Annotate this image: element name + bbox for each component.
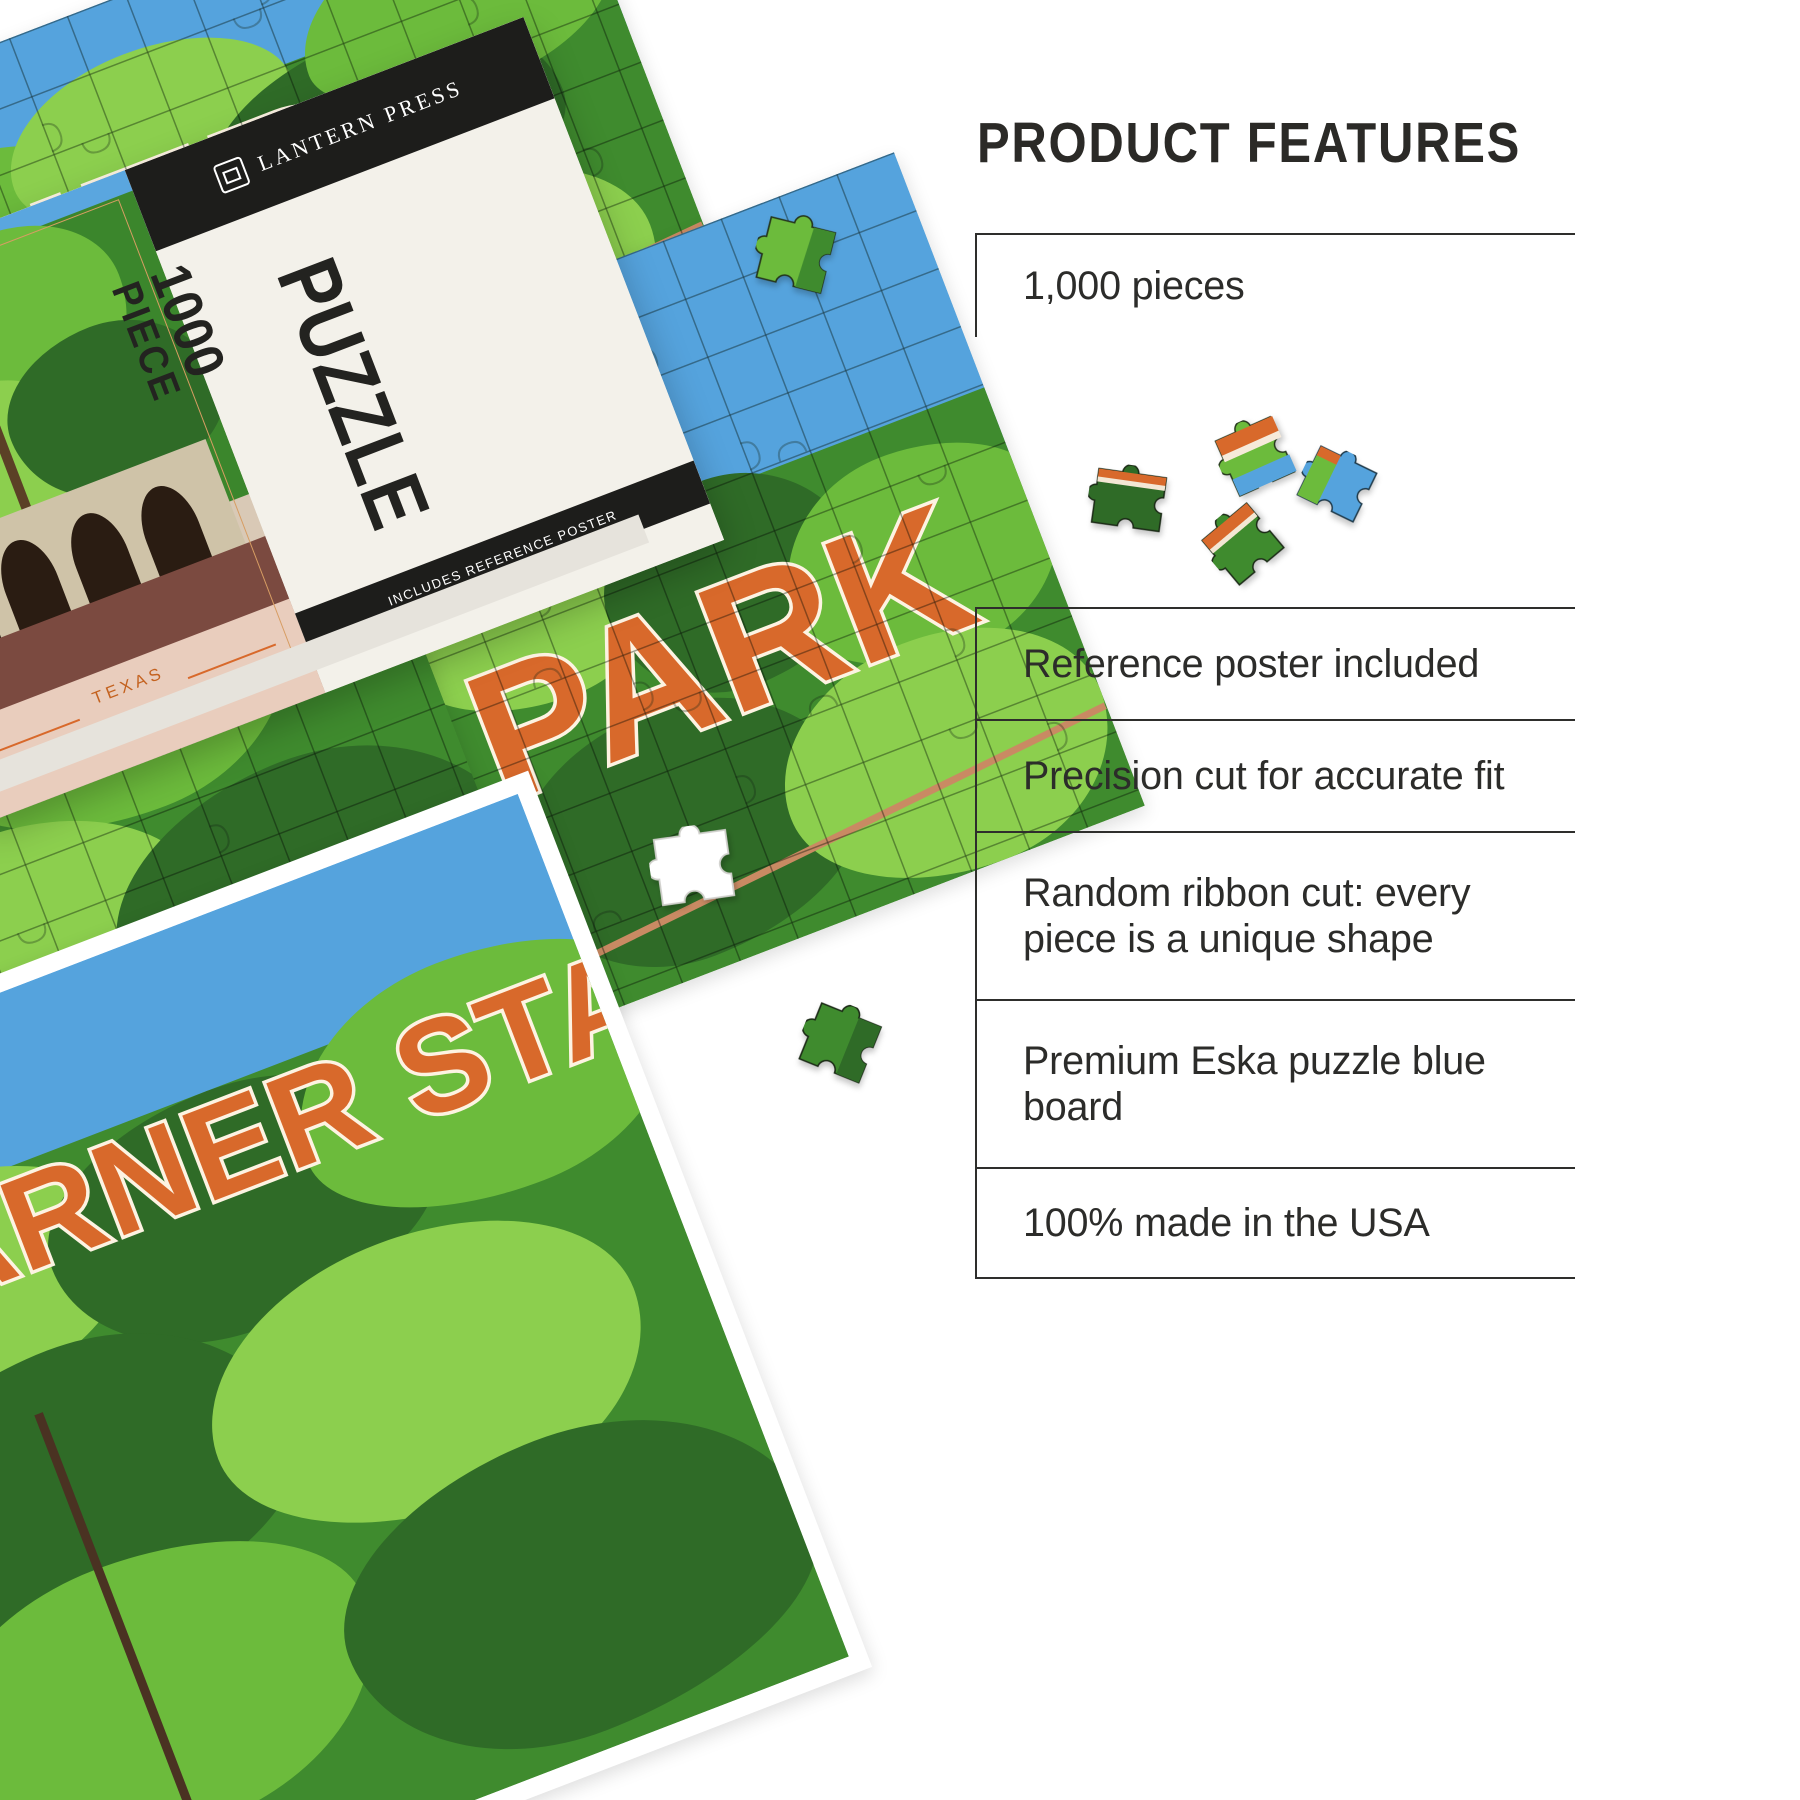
feature-label: 1,000 pieces xyxy=(1023,256,1245,316)
page-title: PRODUCT FEATURES xyxy=(977,115,1543,172)
loose-piece-lower-green xyxy=(789,992,898,1097)
feature-item-precision[interactable]: Precision cut for accurate fit xyxy=(975,719,1575,831)
feature-item-pieces[interactable]: 1,000 pieces xyxy=(975,233,1575,337)
product-features-panel: PRODUCT FEATURES 1,000 pieces Reference … xyxy=(975,115,1635,172)
feature-item-made-in-usa[interactable]: 100% made in the USA xyxy=(975,1167,1575,1279)
product-photo-collage: RNER xyxy=(0,0,980,1800)
feature-list: 1,000 pieces Reference poster included P… xyxy=(975,233,1575,1279)
feature-item-poster[interactable]: Reference poster included xyxy=(975,607,1575,719)
feature-label: 100% made in the USA xyxy=(1023,1193,1430,1253)
loose-piece-white xyxy=(645,819,752,916)
feature-label: Precision cut for accurate fit xyxy=(1023,746,1504,806)
feature-label: Random ribbon cut: every piece is a uniq… xyxy=(1023,863,1538,969)
lantern-press-logo-icon xyxy=(213,156,252,195)
feature-item-blue-board[interactable]: Premium Eska puzzle blue board xyxy=(975,999,1575,1167)
feature-list-gap xyxy=(975,337,1575,607)
product-feature-graphic: RNER xyxy=(0,0,1800,1800)
feature-item-ribbon-cut[interactable]: Random ribbon cut: every piece is a uniq… xyxy=(975,831,1575,999)
feature-label: Premium Eska puzzle blue board xyxy=(1023,1031,1493,1137)
feature-label: Reference poster included xyxy=(1023,634,1479,694)
